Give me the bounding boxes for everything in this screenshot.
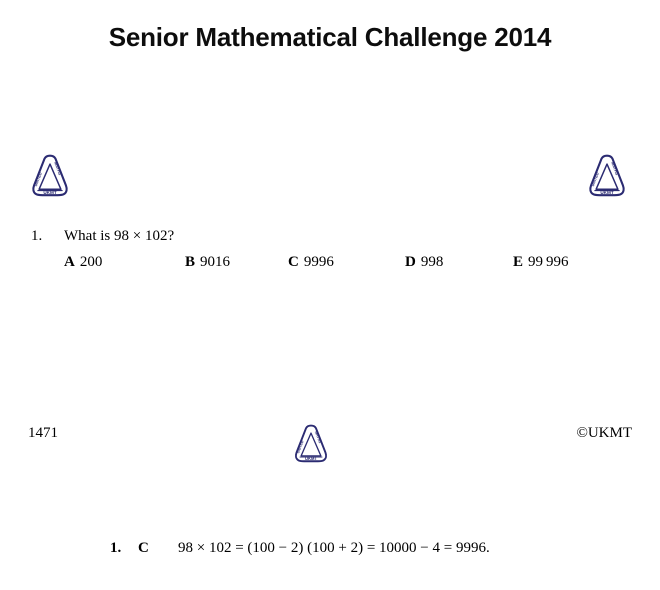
option-letter-a: A xyxy=(64,254,75,270)
option-letter-e: E xyxy=(513,254,523,270)
solution-block: 1. C 98 × 102 = (100 − 2) (100 + 2) = 10… xyxy=(0,540,660,564)
answer-option-e[interactable]: E99 996 xyxy=(513,254,569,271)
ukmt-logo-footer: UKMT UNITED MATHS xyxy=(292,423,330,463)
page-footer: 1471 UKMT UNITED MATHS ©UKMT xyxy=(0,425,660,465)
option-value-e: 99 996 xyxy=(528,254,569,270)
page-title: Senior Mathematical Challenge 2014 xyxy=(0,22,660,53)
solution-answer-letter: C xyxy=(138,540,149,557)
svg-text:UKMT: UKMT xyxy=(305,456,317,461)
svg-text:UKMT: UKMT xyxy=(600,190,613,195)
answer-option-c[interactable]: C9996 xyxy=(288,254,334,271)
footer-page-number: 1471 xyxy=(28,425,58,442)
question-number: 1. xyxy=(31,228,42,245)
answer-options-row: A200 B9016 C9996 D998 E99 996 xyxy=(0,254,660,276)
ukmt-logo-top-right: UKMT UNITED MATHS xyxy=(586,153,628,197)
question-line: 1. What is 98 × 102? xyxy=(0,228,660,250)
question-text: What is 98 × 102? xyxy=(64,228,174,245)
question-block: 1. What is 98 × 102? A200 B9016 C9996 D9… xyxy=(0,228,660,276)
option-value-d: 998 xyxy=(421,254,444,270)
option-letter-c: C xyxy=(288,254,299,270)
solution-number: 1. xyxy=(110,540,121,557)
answer-option-a[interactable]: A200 xyxy=(64,254,102,271)
answer-option-d[interactable]: D998 xyxy=(405,254,443,271)
option-value-c: 9996 xyxy=(304,254,334,270)
ukmt-logo-top-left: UKMT UNITED MATHS xyxy=(29,153,71,197)
solution-working: 98 × 102 = (100 − 2) (100 + 2) = 10000 −… xyxy=(178,540,490,557)
option-letter-d: D xyxy=(405,254,416,270)
option-value-b: 9016 xyxy=(200,254,230,270)
option-letter-b: B xyxy=(185,254,195,270)
answer-option-b[interactable]: B9016 xyxy=(185,254,230,271)
footer-copyright: ©UKMT xyxy=(576,425,632,442)
option-value-a: 200 xyxy=(80,254,103,270)
svg-text:UKMT: UKMT xyxy=(43,190,56,195)
